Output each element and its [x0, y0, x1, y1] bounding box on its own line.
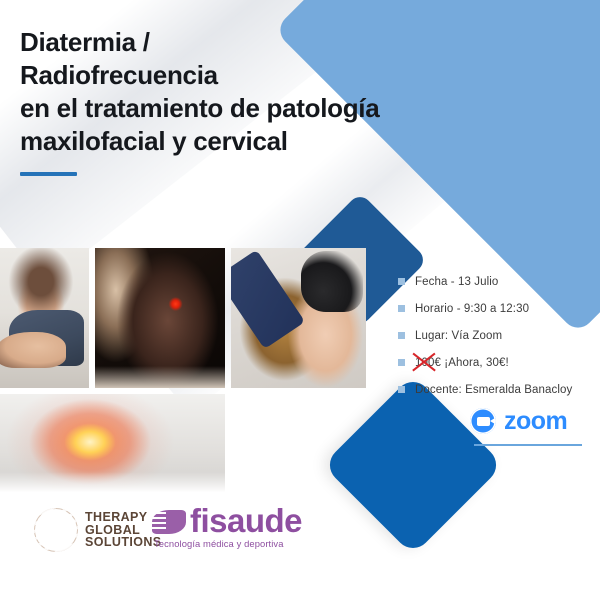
promotional-poster: Diatermia / Radiofrecuencia en el tratam…	[0, 0, 600, 600]
title-line-1: Diatermia /	[20, 26, 420, 59]
detail-instructor-text: Docente: Esmeralda Banacloy	[415, 384, 572, 396]
poster-title-block: Diatermia / Radiofrecuencia en el tratam…	[20, 26, 420, 176]
square-bullet-icon	[398, 278, 405, 285]
photo-therapist-treating-patient	[0, 248, 89, 388]
detail-price-text: 100€ ¡Ahora, 30€!	[415, 357, 509, 369]
detail-location-text: Lugar: Vía Zoom	[415, 330, 502, 342]
event-details-list: Fecha - 13 Julio Horario - 9:30 a 12:30 …	[398, 270, 598, 405]
photo-ear-jaw-image	[231, 248, 366, 388]
photo-ear-jaw-treatment	[231, 248, 366, 388]
zoom-logo: zoom	[470, 408, 567, 434]
photo-therapist-image	[0, 248, 89, 388]
square-bullet-icon	[398, 332, 405, 339]
video-camera-icon	[470, 408, 496, 434]
square-bullet-icon	[398, 359, 405, 366]
fisaude-wordmark: fisaude	[190, 506, 302, 536]
title-line-2: Radiofrecuencia	[20, 59, 420, 92]
detail-row-schedule: Horario - 9:30 a 12:30	[398, 297, 598, 320]
detail-date-text: Fecha - 13 Julio	[415, 276, 498, 288]
tgs-line-3: SOLUTIONS	[85, 536, 162, 549]
photo-jaw-tmj-glow	[0, 394, 225, 494]
detail-row-location: Lugar: Vía Zoom	[398, 324, 598, 347]
square-bullet-icon	[398, 386, 405, 393]
detail-row-date: Fecha - 13 Julio	[398, 270, 598, 293]
fisaude-logo: fisaude Tecnología médica y deportiva	[152, 506, 302, 549]
therapy-global-solutions-logo: THERAPY GLOBAL SOLUTIONS	[34, 508, 162, 552]
square-bullet-icon	[398, 305, 405, 312]
detail-schedule-text: Horario - 9:30 a 12:30	[415, 303, 529, 315]
title-line-3: en el tratamiento de patología	[20, 92, 420, 125]
detail-row-price: 100€ ¡Ahora, 30€!	[398, 351, 598, 374]
photo-cervical-image	[95, 248, 225, 388]
detail-row-instructor: Docente: Esmeralda Banacloy	[398, 378, 598, 401]
swirl-sphere-icon	[34, 508, 78, 552]
title-line-4: maxilofacial y cervical	[20, 125, 420, 158]
zoom-underline-rule	[474, 444, 582, 446]
photo-cervical-pain-anatomy	[95, 248, 225, 388]
fisaude-swoosh-icon	[152, 508, 188, 536]
fisaude-tagline: Tecnología médica y deportiva	[154, 538, 302, 549]
title-accent-rule	[20, 172, 77, 176]
zoom-wordmark: zoom	[504, 409, 567, 434]
photo-jaw-image	[0, 394, 225, 494]
